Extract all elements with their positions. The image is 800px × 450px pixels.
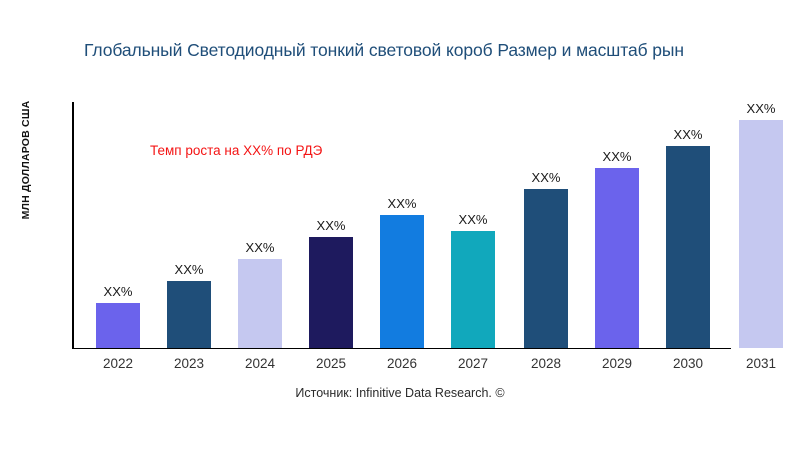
bar-value-label: XX% bbox=[674, 127, 703, 142]
x-tick-2026: 2026 bbox=[387, 356, 417, 371]
bar-2024[interactable]: XX% bbox=[238, 259, 282, 348]
bar-2028[interactable]: XX% bbox=[524, 189, 568, 348]
growth-rate-annotation: Темп роста на XX% по РДЭ bbox=[150, 143, 322, 158]
y-axis-line bbox=[72, 102, 74, 349]
bar-2025[interactable]: XX% bbox=[309, 237, 353, 348]
bar-2027[interactable]: XX% bbox=[451, 231, 495, 348]
bar-value-label: XX% bbox=[747, 101, 776, 116]
x-tick-2028: 2028 bbox=[531, 356, 561, 371]
bar-2031[interactable]: XX% bbox=[739, 120, 783, 348]
x-tick-2027: 2027 bbox=[458, 356, 488, 371]
chart-screenshot: Глобальный Светодиодный тонкий световой … bbox=[0, 0, 800, 450]
x-tick-2024: 2024 bbox=[245, 356, 275, 371]
bar-2026[interactable]: XX% bbox=[380, 215, 424, 348]
bar-value-label: XX% bbox=[175, 262, 204, 277]
bar-value-label: XX% bbox=[388, 196, 417, 211]
bar-value-label: XX% bbox=[246, 240, 275, 255]
x-tick-2023: 2023 bbox=[174, 356, 204, 371]
bar-2023[interactable]: XX% bbox=[167, 281, 211, 348]
bar-value-label: XX% bbox=[459, 212, 488, 227]
x-tick-2022: 2022 bbox=[103, 356, 133, 371]
x-tick-2030: 2030 bbox=[673, 356, 703, 371]
bar-value-label: XX% bbox=[603, 149, 632, 164]
source-caption: Источник: Infinitive Data Research. © bbox=[295, 386, 504, 400]
bar-value-label: XX% bbox=[104, 284, 133, 299]
x-tick-2025: 2025 bbox=[316, 356, 346, 371]
bar-2022[interactable]: XX% bbox=[96, 303, 140, 348]
bar-2030[interactable]: XX% bbox=[666, 146, 710, 348]
bar-value-label: XX% bbox=[532, 170, 561, 185]
bar-value-label: XX% bbox=[317, 218, 346, 233]
bar-2029[interactable]: XX% bbox=[595, 168, 639, 348]
x-tick-2031: 2031 bbox=[746, 356, 776, 371]
plot-area: XX%XX%XX%XX%XX%XX%XX%XX%XX%XX% 202220232… bbox=[0, 0, 800, 450]
x-tick-2029: 2029 bbox=[602, 356, 632, 371]
